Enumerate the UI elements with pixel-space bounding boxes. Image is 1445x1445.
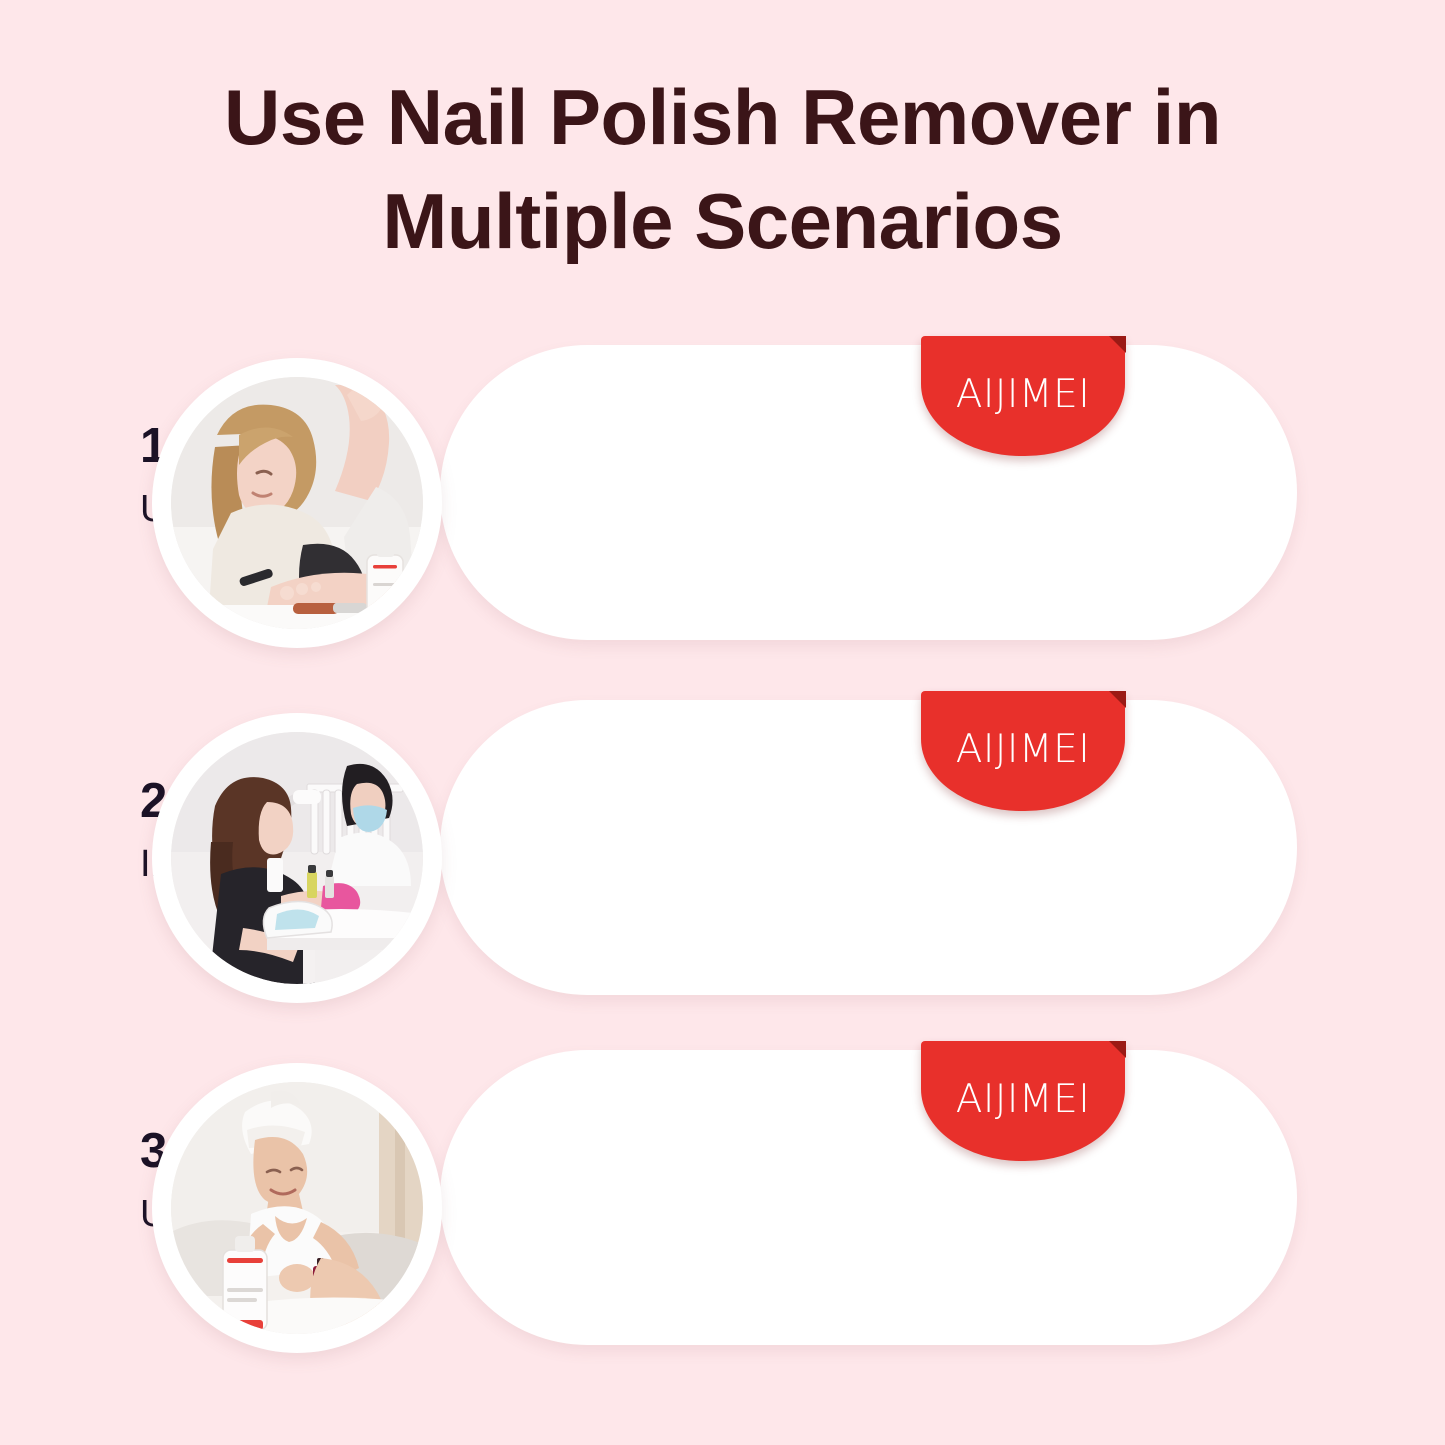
scenario-row-1: 1. Use with friends. AIJIMEI	[0, 345, 1445, 645]
friends-manicure-illustration	[171, 377, 423, 629]
brand-badge-2: AIJIMEI	[921, 691, 1125, 811]
scenario-photo-2	[152, 713, 442, 1003]
scenario-photo-1	[152, 358, 442, 648]
scenario-card-2	[440, 700, 1297, 995]
scenario-card-3	[440, 1050, 1297, 1345]
brand-name-1: AIJIMEI	[921, 372, 1125, 417]
home-pedicure-illustration	[171, 1082, 423, 1334]
photo-image-home	[171, 1082, 423, 1334]
brand-name-2: AIJIMEI	[921, 727, 1125, 772]
scenario-row-2: 2. In Salon. AIJIMEI	[0, 700, 1445, 1000]
scenario-row-3: 3. Use at home. AIJIMEI	[0, 1050, 1445, 1350]
scenario-photo-3	[152, 1063, 442, 1353]
page-title-line-1: Use Nail Polish Remover in	[0, 66, 1445, 170]
photo-image-salon	[171, 732, 423, 984]
page-title: Use Nail Polish Remover in Multiple Scen…	[0, 66, 1445, 273]
badge-fold-corner-icon-2	[1109, 691, 1126, 708]
badge-fold-corner-icon-3	[1109, 1041, 1126, 1058]
page-title-line-2: Multiple Scenarios	[0, 170, 1445, 274]
scenario-card-1	[440, 345, 1297, 640]
brand-badge-3: AIJIMEI	[921, 1041, 1125, 1161]
brand-name-3: AIJIMEI	[921, 1077, 1125, 1122]
brand-badge-1: AIJIMEI	[921, 336, 1125, 456]
salon-manicure-illustration	[171, 732, 423, 984]
photo-image-friends	[171, 377, 423, 629]
badge-fold-corner-icon-1	[1109, 336, 1126, 353]
